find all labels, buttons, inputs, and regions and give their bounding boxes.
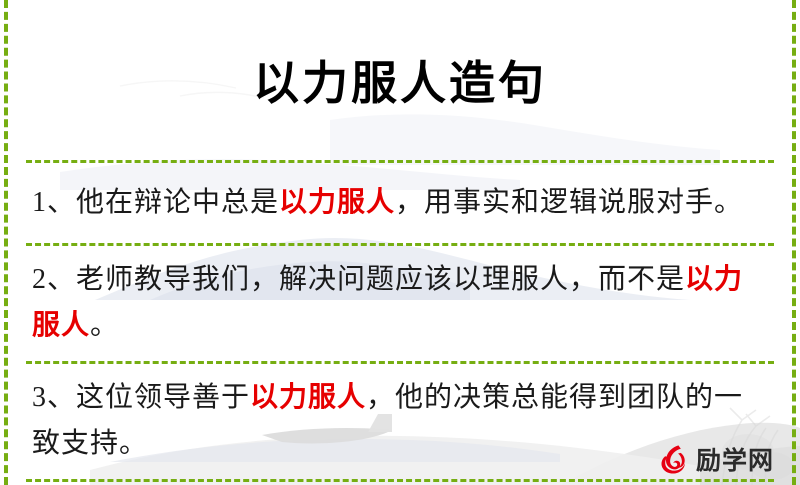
sentence-segment-0: 1、他在辩论中总是 xyxy=(32,187,279,218)
sentence-segment-2: 。 xyxy=(90,310,119,341)
sentence-segment-0: 2、老师教导我们，解决问题应该以理服人，而不是 xyxy=(32,264,685,295)
page-title: 以力服人造句 xyxy=(26,31,774,129)
sentence-text-2: 2、老师教导我们，解决问题应该以理服人，而不是以力服人。 xyxy=(32,257,768,349)
content-column: 以力服人造句 1、他在辩论中总是以力服人，用事实和逻辑说服对手。 2、老师教导我… xyxy=(0,31,800,485)
sentence-row-2: 2、老师教导我们，解决问题应该以理服人，而不是以力服人。 xyxy=(26,246,774,361)
frame-border-left xyxy=(4,0,8,485)
sentence-text-1: 1、他在辩论中总是以力服人，用事实和逻辑说服对手。 xyxy=(32,180,743,226)
sentence-segment-0: 3、这位领导善于 xyxy=(32,382,250,413)
divider-bottom xyxy=(26,479,774,482)
flame-swirl-icon xyxy=(657,442,691,476)
page-root: 以力服人造句 1、他在辩论中总是以力服人，用事实和逻辑说服对手。 2、老师教导我… xyxy=(0,0,800,485)
sentence-segment-2: ，用事实和逻辑说服对手。 xyxy=(395,187,743,218)
highlighted-idiom: 以力服人 xyxy=(279,187,395,218)
sentence-row-1: 1、他在辩论中总是以力服人，用事实和逻辑说服对手。 xyxy=(26,163,774,243)
site-brand-name: 励学网 xyxy=(696,441,774,477)
frame-border-right xyxy=(792,0,796,485)
highlighted-idiom: 以力服人 xyxy=(250,382,366,413)
site-watermark[interactable]: 励学网 xyxy=(657,441,774,477)
